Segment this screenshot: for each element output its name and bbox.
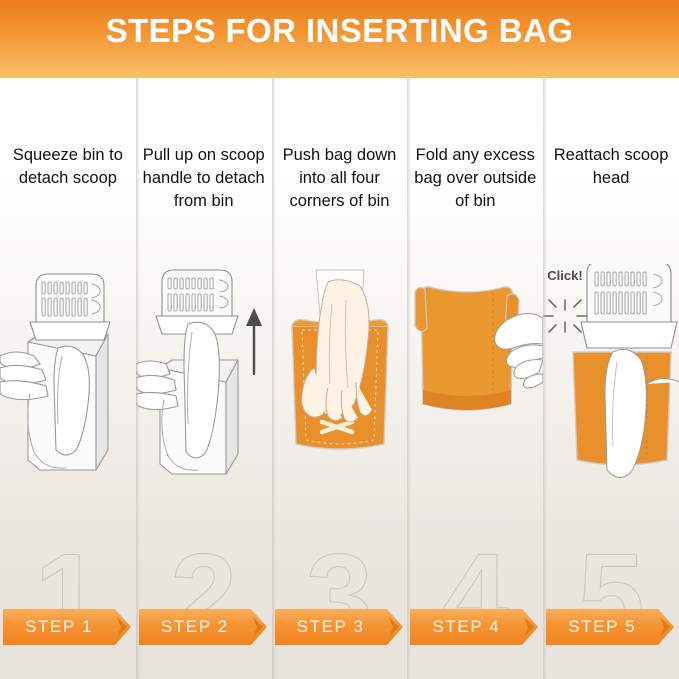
step-panel-5: Reattach scoop head 5 bbox=[543, 78, 679, 679]
step-panel-4: Fold any excess bag over outside of bin … bbox=[407, 78, 543, 679]
step-banner-2[interactable]: STEP 2 bbox=[139, 609, 272, 645]
step-caption-1: Squeeze bin to detach scoop bbox=[0, 144, 136, 190]
illustration-step-1 bbox=[0, 264, 136, 494]
page-title: STEPS FOR INSERTING BAG bbox=[0, 0, 679, 62]
step-banner-3[interactable]: STEP 3 bbox=[275, 609, 408, 645]
illustration-step-4 bbox=[407, 264, 543, 494]
step-caption-2: Pull up on scoop handle to detach from b… bbox=[136, 144, 272, 213]
step-panel-3: Push bag down into all four corners of b… bbox=[272, 78, 408, 679]
click-annotation-text: Click! bbox=[547, 268, 582, 283]
step-caption-3: Push bag down into all four corners of b… bbox=[272, 144, 408, 213]
step-panel-2: Pull up on scoop handle to detach from b… bbox=[136, 78, 272, 679]
header-band: STEPS FOR INSERTING BAG bbox=[0, 0, 679, 78]
step-banner-label-2: STEP 2 bbox=[139, 609, 251, 645]
illustration-step-5: Click! bbox=[543, 264, 679, 494]
step-banner-label-4: STEP 4 bbox=[410, 609, 522, 645]
illustration-step-3 bbox=[272, 264, 408, 494]
step-banner-label-5: STEP 5 bbox=[546, 609, 658, 645]
steps-infographic: STEPS FOR INSERTING BAG Squeeze bin to d… bbox=[0, 0, 679, 679]
steps-panel-row: Squeeze bin to detach scoop 1 bbox=[0, 78, 679, 679]
step-banner-1[interactable]: STEP 1 bbox=[3, 609, 136, 645]
step-banner-label-1: STEP 1 bbox=[3, 609, 115, 645]
step-caption-4: Fold any excess bag over outside of bin bbox=[407, 144, 543, 213]
step-banner-4[interactable]: STEP 4 bbox=[410, 609, 543, 645]
step-banner-5[interactable]: STEP 5 bbox=[546, 609, 679, 645]
step-caption-5: Reattach scoop head bbox=[543, 144, 679, 190]
illustration-step-2 bbox=[136, 264, 272, 494]
step-banner-label-3: STEP 3 bbox=[275, 609, 387, 645]
step-panel-1: Squeeze bin to detach scoop 1 bbox=[0, 78, 136, 679]
